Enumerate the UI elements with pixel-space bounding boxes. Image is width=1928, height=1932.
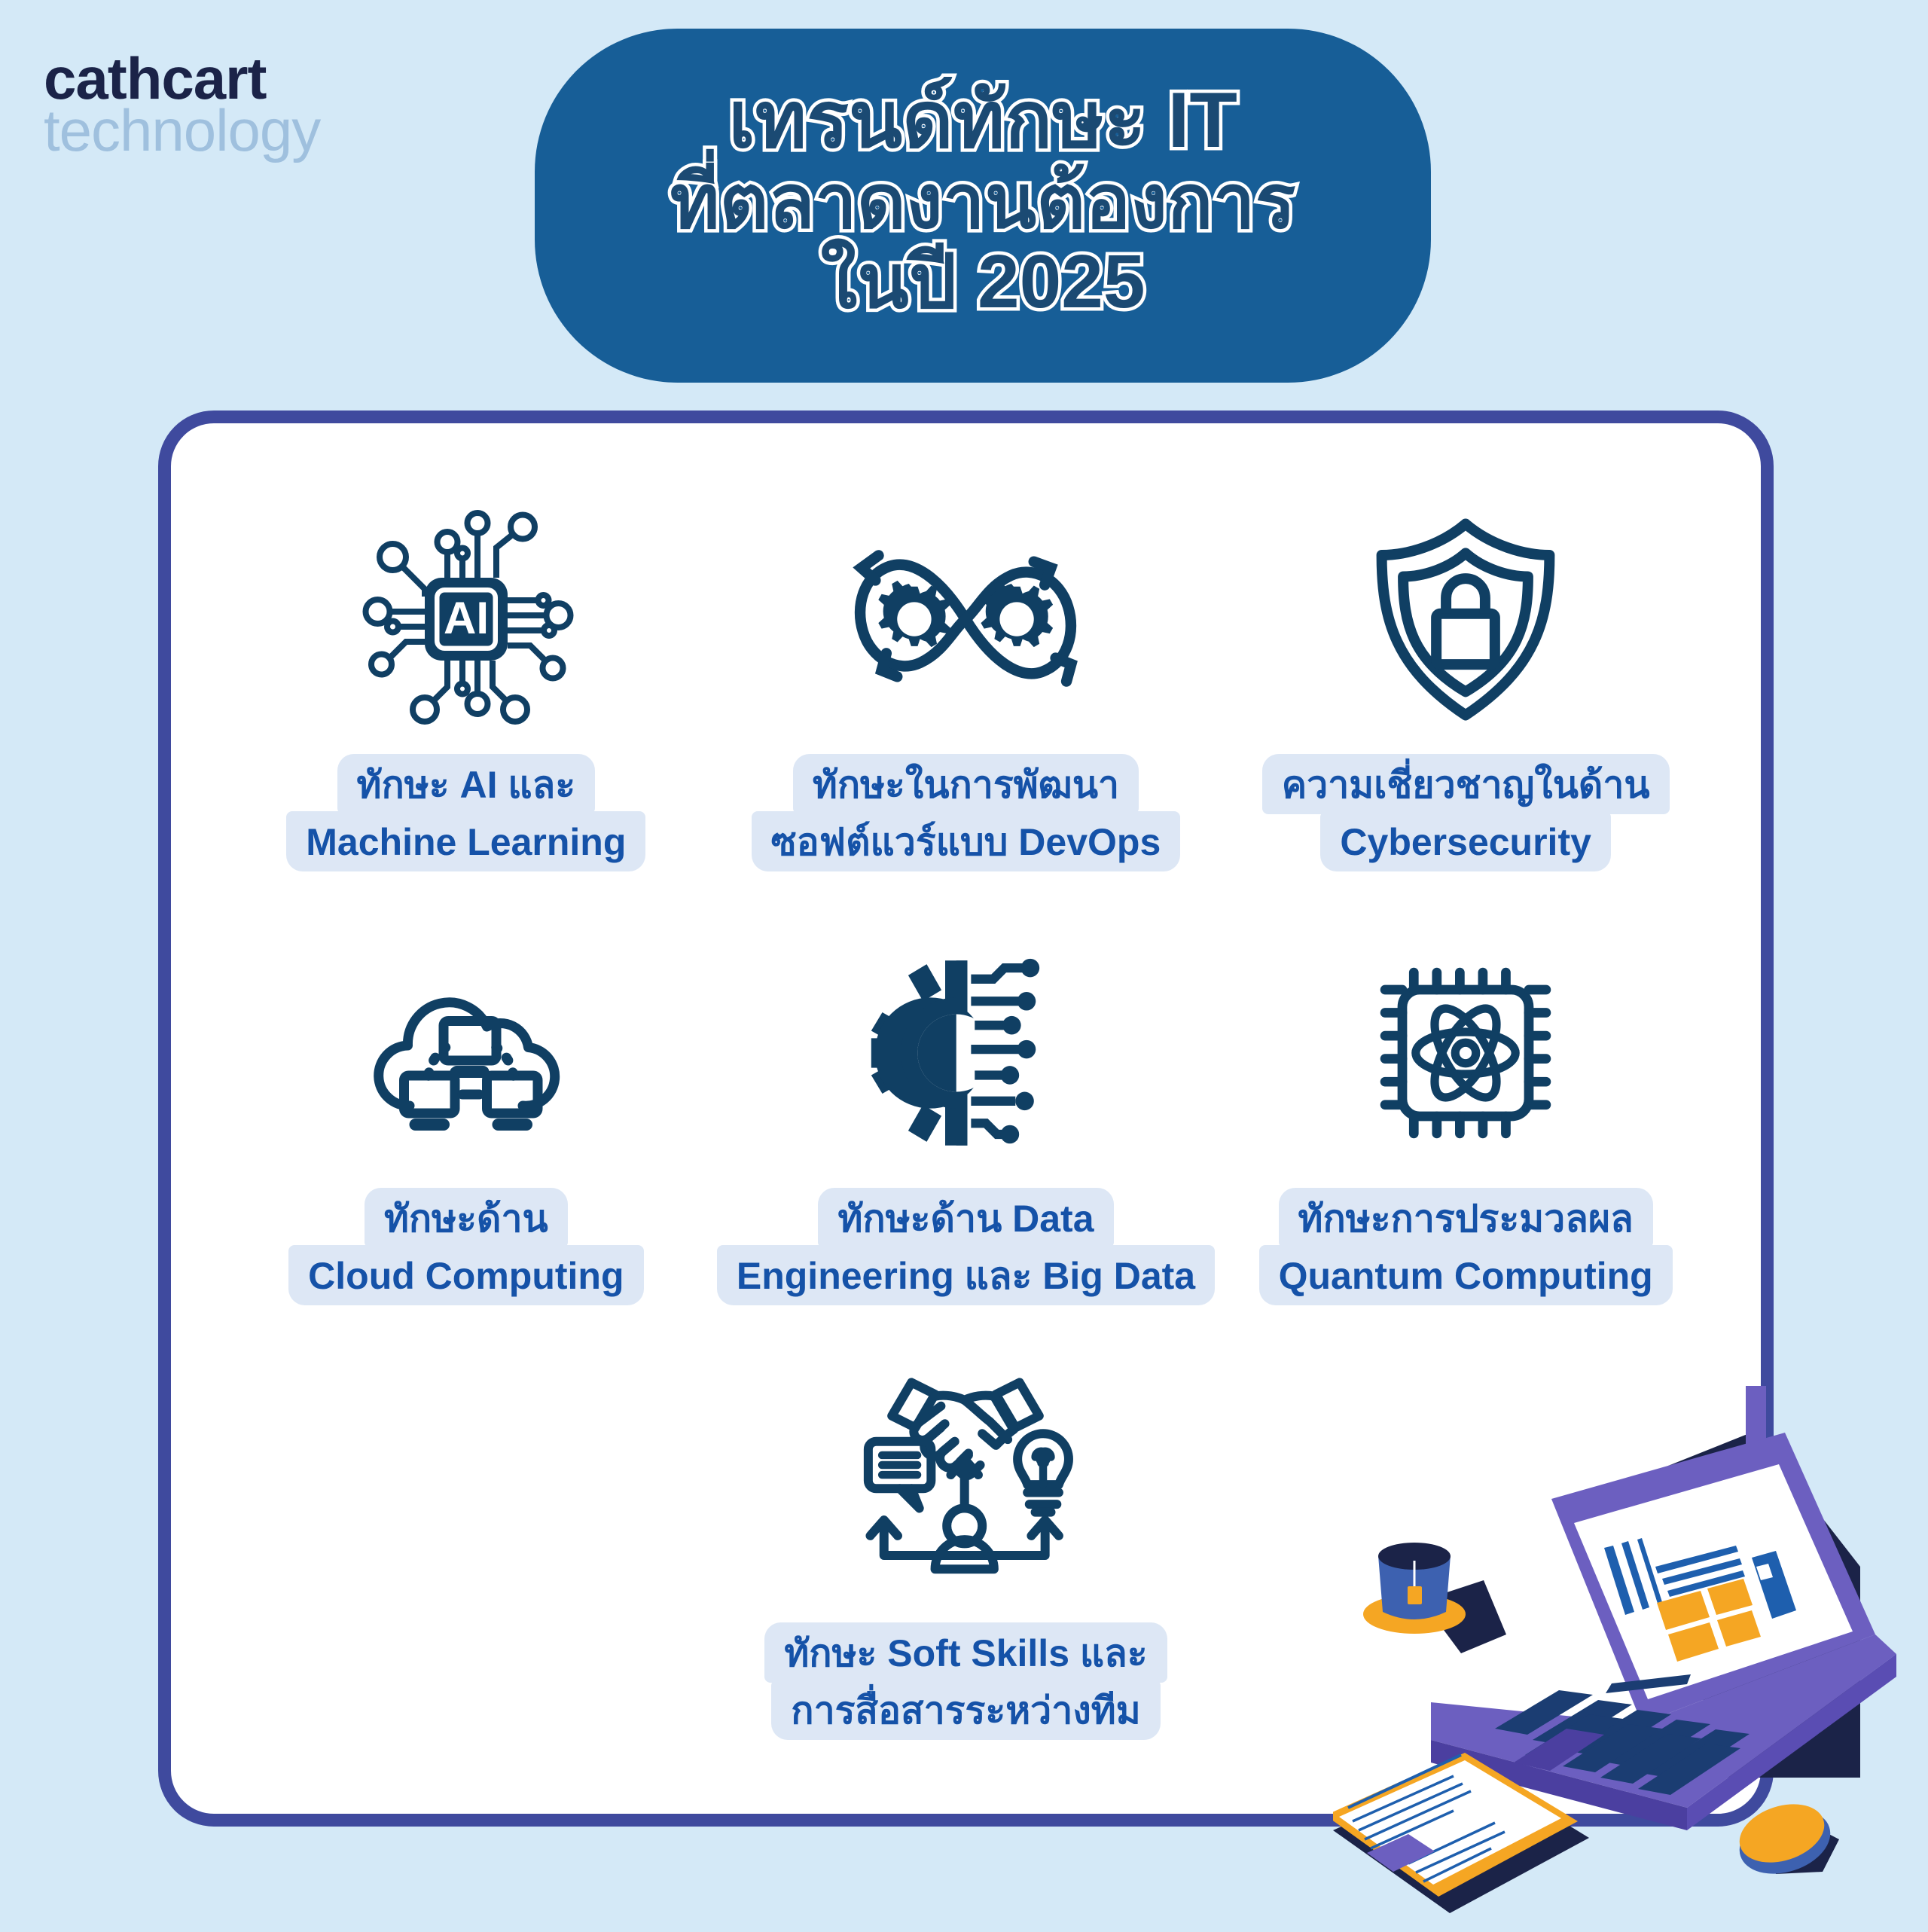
- skill-label-ai: ทักษะ AI และ Machine Learning: [286, 754, 645, 871]
- brand-name-secondary: technology: [44, 105, 320, 157]
- title-banner: เทรนด์ทักษะ IT ที่ตลาดงานต้องการ ในปี 20…: [535, 29, 1431, 383]
- skill-label-line1: ทักษะด้าน: [365, 1188, 568, 1248]
- skill-item-soft-skills[interactable]: ทักษะ Soft Skills และ การสื่อสารระหว่างท…: [716, 1363, 1216, 1784]
- devops-infinity-gears-icon: [841, 495, 1090, 743]
- isometric-desk-workspace-illustration: [1333, 1386, 1928, 1928]
- title-line-2: ที่ตลาดงานต้องการ: [670, 162, 1296, 242]
- skill-label-line1: ความเชี่ยวชาญในด้าน: [1262, 754, 1670, 814]
- soft-skills-handshake-icon: [853, 1363, 1078, 1612]
- title-line-3: ในปี 2025: [821, 242, 1146, 322]
- skill-label-line1: ทักษะการประมวลผล: [1279, 1188, 1653, 1248]
- skill-label-line1: ทักษะในการพัฒนา: [793, 754, 1139, 814]
- skill-label-line2: Machine Learning: [286, 811, 645, 871]
- ai-chip-icon: AI: [353, 495, 579, 743]
- shield-lock-icon: [1368, 495, 1563, 743]
- skill-label-line1: ทักษะ AI และ: [337, 754, 596, 814]
- skill-label-line2: ซอฟต์แวร์แบบ DevOps: [752, 811, 1181, 871]
- title-line-1: เทรนด์ทักษะ IT: [728, 79, 1237, 162]
- skill-label-cybersecurity: ความเชี่ยวชาญในด้าน Cybersecurity: [1262, 754, 1670, 871]
- cloud-network-icon: [353, 929, 579, 1177]
- quantum-cpu-atom-icon: [1360, 929, 1571, 1177]
- skill-label-quantum: ทักษะการประมวลผล Quantum Computing: [1259, 1188, 1673, 1305]
- svg-text:AI: AI: [444, 593, 489, 643]
- gear-data-lines-icon: [864, 929, 1067, 1177]
- skill-label-line2: Quantum Computing: [1259, 1245, 1673, 1305]
- skill-item-quantum[interactable]: ทักษะการประมวลผล Quantum Computing: [1216, 929, 1716, 1349]
- skill-label-line2: การสื่อสารระหว่างทีม: [771, 1680, 1160, 1740]
- skill-label-line2: Cybersecurity: [1320, 811, 1611, 871]
- skill-item-ai[interactable]: AI: [216, 495, 716, 915]
- skill-label-line1: ทักษะด้าน Data: [818, 1188, 1113, 1248]
- skill-label-devops: ทักษะในการพัฒนา ซอฟต์แวร์แบบ DevOps: [752, 754, 1181, 871]
- skill-label-data-engineering: ทักษะด้าน Data Engineering และ Big Data: [717, 1188, 1215, 1305]
- skill-label-cloud: ทักษะด้าน Cloud Computing: [288, 1188, 643, 1305]
- skill-item-cybersecurity[interactable]: ความเชี่ยวชาญในด้าน Cybersecurity: [1216, 495, 1716, 915]
- skill-label-line2: Cloud Computing: [288, 1245, 643, 1305]
- skill-item-devops[interactable]: ทักษะในการพัฒนา ซอฟต์แวร์แบบ DevOps: [716, 495, 1216, 915]
- skill-label-soft-skills: ทักษะ Soft Skills และ การสื่อสารระหว่างท…: [764, 1622, 1167, 1740]
- skill-item-cloud[interactable]: ทักษะด้าน Cloud Computing: [216, 929, 716, 1349]
- skill-label-line2: Engineering และ Big Data: [717, 1245, 1215, 1305]
- brand-logo: cathcart technology: [44, 53, 320, 156]
- skill-label-line1: ทักษะ Soft Skills และ: [764, 1622, 1167, 1683]
- skill-item-data-engineering[interactable]: ทักษะด้าน Data Engineering และ Big Data: [716, 929, 1216, 1349]
